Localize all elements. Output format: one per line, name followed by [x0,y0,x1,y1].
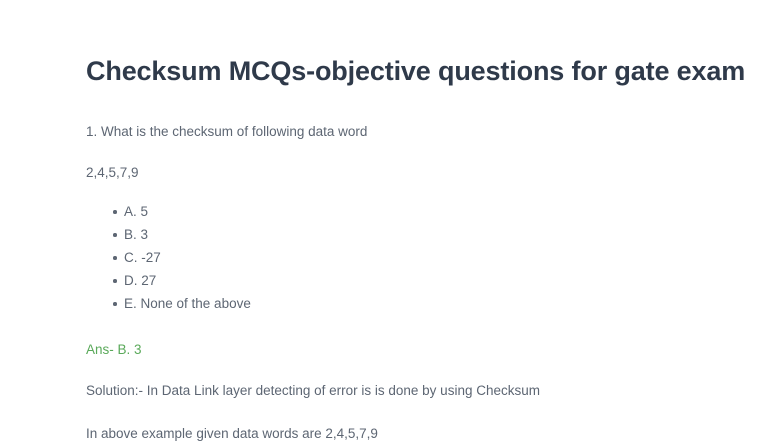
question-text: 1. What is the checksum of following dat… [86,122,367,141]
list-item: D. 27 [86,269,251,292]
option-label: E. None of the above [124,296,251,311]
answer-text: Ans- B. 3 [86,340,142,359]
option-label: C. -27 [124,250,161,265]
list-item: A. 5 [86,200,251,223]
page-title: Checksum MCQs-objective questions for ga… [86,54,745,88]
option-label: B. 3 [124,227,148,242]
option-label: D. 27 [124,273,156,288]
data-word-text: 2,4,5,7,9 [86,163,139,182]
options-list: A. 5 B. 3 C. -27 D. 27 E. None of the ab… [86,200,251,315]
solution-text: Solution:- In Data Link layer detecting … [86,381,540,400]
article-page: Checksum MCQs-objective questions for ga… [0,0,768,447]
list-item: E. None of the above [86,292,251,315]
option-label: A. 5 [124,204,148,219]
example-note-text: In above example given data words are 2,… [86,424,378,443]
list-item: B. 3 [86,223,251,246]
list-item: C. -27 [86,246,251,269]
